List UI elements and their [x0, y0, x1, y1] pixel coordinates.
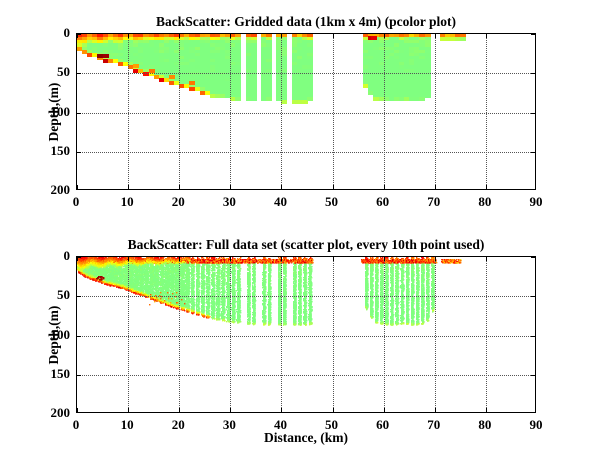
- y-tick-mark: [77, 375, 81, 376]
- x-tick-mark: [281, 185, 282, 189]
- gridline-vertical: [230, 34, 231, 189]
- x-tick-mark: [128, 185, 129, 189]
- y-tick-label: 100: [40, 104, 70, 120]
- y-tick-mark: [77, 73, 81, 74]
- top-plot-title: BackScatter: Gridded data (1km x 4m) (pc…: [76, 14, 536, 30]
- x-tick-label: 80: [478, 194, 491, 210]
- y-tick-label: 150: [40, 366, 70, 382]
- y-tick-mark: [531, 336, 535, 337]
- x-tick-mark: [230, 34, 231, 38]
- x-tick-mark: [179, 408, 180, 412]
- x-tick-mark: [128, 408, 129, 412]
- x-tick-label: 50: [325, 194, 338, 210]
- y-tick-mark: [531, 73, 535, 74]
- x-tick-label: 30: [223, 194, 236, 210]
- gridline-vertical: [281, 34, 282, 189]
- gridline-horizontal: [77, 375, 535, 376]
- x-tick-mark: [384, 34, 385, 38]
- bottom-axes: [76, 256, 536, 413]
- x-tick-mark: [435, 257, 436, 261]
- x-tick-label: 90: [530, 194, 543, 210]
- x-tick-mark: [179, 34, 180, 38]
- x-tick-mark: [179, 257, 180, 261]
- gridline-vertical: [128, 257, 129, 412]
- x-tick-mark: [333, 185, 334, 189]
- top-axes: [76, 33, 536, 190]
- x-tick-mark: [230, 185, 231, 189]
- y-tick-label: 150: [40, 143, 70, 159]
- x-tick-mark: [77, 408, 78, 412]
- y-tick-mark: [77, 296, 81, 297]
- y-tick-mark: [77, 336, 81, 337]
- x-tick-mark: [384, 185, 385, 189]
- y-tick-mark: [531, 113, 535, 114]
- gridline-horizontal: [77, 113, 535, 114]
- gridline-vertical: [384, 257, 385, 412]
- y-tick-label: 0: [40, 248, 70, 264]
- gridline-vertical: [281, 257, 282, 412]
- y-tick-label: 50: [40, 287, 70, 303]
- x-tick-label: 70: [427, 194, 440, 210]
- y-tick-mark: [531, 257, 535, 258]
- figure-canvas: BackScatter: Gridded data (1km x 4m) (pc…: [0, 0, 600, 451]
- x-tick-mark: [230, 257, 231, 261]
- x-tick-mark: [435, 408, 436, 412]
- bottom-plot-title: BackScatter: Full data set (scatter plot…: [76, 237, 536, 253]
- x-tick-mark: [435, 185, 436, 189]
- x-tick-mark: [333, 34, 334, 38]
- y-tick-mark: [77, 113, 81, 114]
- x-tick-label: 20: [172, 194, 185, 210]
- x-tick-mark: [179, 185, 180, 189]
- bottom-x-axis-label: Distance, (km): [76, 430, 536, 446]
- gridline-vertical: [486, 257, 487, 412]
- x-tick-label: 10: [121, 194, 134, 210]
- x-tick-mark: [384, 408, 385, 412]
- gridline-vertical: [179, 34, 180, 189]
- y-tick-mark: [77, 152, 81, 153]
- x-tick-mark: [333, 257, 334, 261]
- gridline-vertical: [230, 257, 231, 412]
- y-tick-mark: [531, 34, 535, 35]
- x-tick-label: 40: [274, 194, 287, 210]
- gridline-horizontal: [77, 152, 535, 153]
- x-tick-mark: [281, 34, 282, 38]
- y-tick-label: 200: [40, 182, 70, 198]
- gridline-vertical: [333, 257, 334, 412]
- x-tick-mark: [77, 185, 78, 189]
- gridline-vertical: [435, 34, 436, 189]
- gridline-vertical: [486, 34, 487, 189]
- gridline-vertical: [333, 34, 334, 189]
- x-tick-label: 60: [376, 194, 389, 210]
- gridline-horizontal: [77, 296, 535, 297]
- x-tick-mark: [281, 257, 282, 261]
- x-tick-mark: [333, 408, 334, 412]
- gridline-vertical: [435, 257, 436, 412]
- gridline-horizontal: [77, 73, 535, 74]
- x-tick-mark: [486, 34, 487, 38]
- x-tick-mark: [384, 257, 385, 261]
- gridline-vertical: [128, 34, 129, 189]
- gridline-vertical: [384, 34, 385, 189]
- y-tick-mark: [531, 375, 535, 376]
- x-tick-mark: [486, 185, 487, 189]
- y-tick-mark: [77, 257, 81, 258]
- x-tick-mark: [281, 408, 282, 412]
- y-tick-label: 100: [40, 327, 70, 343]
- gridline-vertical: [179, 257, 180, 412]
- x-tick-mark: [486, 408, 487, 412]
- y-tick-label: 0: [40, 25, 70, 41]
- gridline-horizontal: [77, 336, 535, 337]
- x-tick-mark: [230, 408, 231, 412]
- y-tick-label: 50: [40, 64, 70, 80]
- x-tick-mark: [435, 34, 436, 38]
- y-tick-mark: [531, 152, 535, 153]
- x-tick-label: 0: [73, 194, 80, 210]
- y-tick-label: 200: [40, 405, 70, 421]
- x-tick-mark: [128, 257, 129, 261]
- x-tick-mark: [128, 34, 129, 38]
- y-tick-mark: [531, 296, 535, 297]
- x-tick-mark: [486, 257, 487, 261]
- y-tick-mark: [77, 34, 81, 35]
